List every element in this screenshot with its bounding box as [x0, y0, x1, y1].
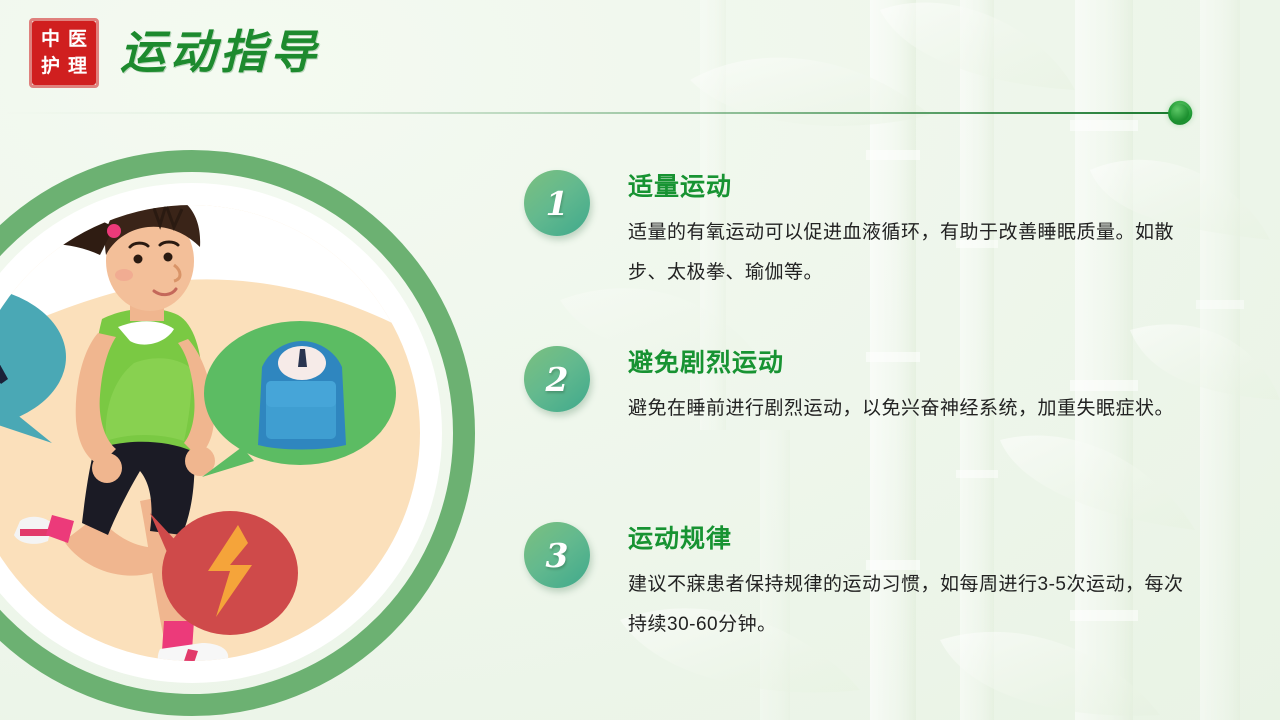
- item-desc-2: 避免在睡前进行剧烈运动，以免兴奋神经系统，加重失眠症状。: [628, 389, 1190, 429]
- page-title: 运动指导: [120, 20, 320, 84]
- item-number-badge-3: 3: [524, 522, 590, 588]
- item-desc-3: 建议不寐患者保持规律的运动习惯，如每周进行3-5次运动，每次持续30-60分钟。: [628, 565, 1190, 645]
- item-number-badge-2: 2: [524, 346, 590, 412]
- seal-char-3: 护: [37, 53, 64, 80]
- item-title-3: 运动规律: [628, 522, 1224, 556]
- guidance-list: 1 适量运动 适量的有氧运动可以促进血液循环，有助于改善睡眠质量。如散步、太极拳…: [524, 168, 1224, 696]
- slide-header: 中 医 护 理 运动指导: [0, 0, 1280, 110]
- item-title-2: 避免剧烈运动: [628, 346, 1224, 380]
- seal-char-1: 中: [37, 26, 64, 53]
- header-divider: [0, 112, 1175, 114]
- item-number-2: 2: [546, 363, 569, 396]
- item-number-3: 3: [546, 539, 569, 572]
- item-number-badge-1: 1: [524, 170, 590, 236]
- tcm-nursing-seal-icon: 中 医 护 理: [32, 21, 96, 85]
- slide-root: 中 医 护 理 运动指导: [0, 0, 1280, 720]
- item-title-1: 适量运动: [628, 170, 1224, 204]
- seal-char-4: 理: [64, 53, 91, 80]
- list-item: 2 避免剧烈运动 避免在睡前进行剧烈运动，以免兴奋神经系统，加重失眠症状。: [524, 344, 1224, 484]
- list-item: 3 运动规律 建议不寐患者保持规律的运动习惯，如每周进行3-5次运动，每次持续3…: [524, 520, 1224, 660]
- seal-char-2: 医: [64, 26, 91, 53]
- item-desc-1: 适量的有氧运动可以促进血液循环，有助于改善睡眠质量。如散步、太极拳、瑜伽等。: [628, 213, 1190, 293]
- item-number-1: 1: [546, 187, 569, 220]
- list-item: 1 适量运动 适量的有氧运动可以促进血液循环，有助于改善睡眠质量。如散步、太极拳…: [524, 168, 1224, 308]
- running-woman-illustration: [0, 143, 482, 720]
